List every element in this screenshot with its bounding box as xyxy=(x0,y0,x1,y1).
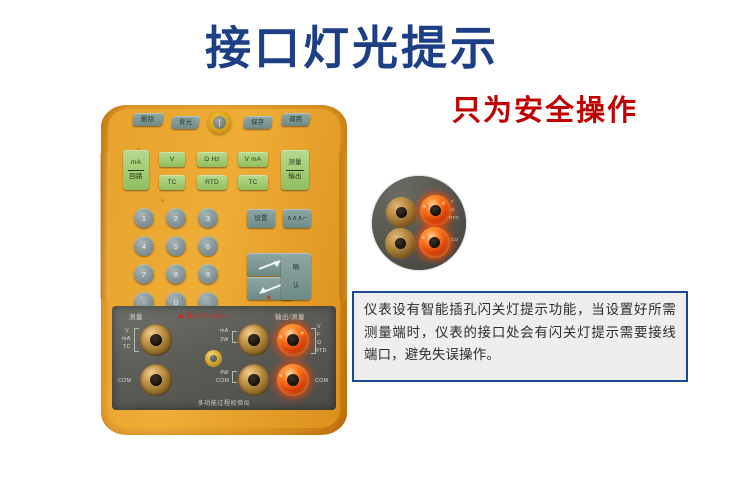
jack-glow xyxy=(277,373,285,378)
mid-bottom-jack[interactable] xyxy=(238,364,270,396)
rtd-button[interactable]: RTD xyxy=(197,175,227,190)
key-2[interactable]: 2 xyxy=(166,208,186,228)
warning-label: 最大30V 24mA xyxy=(178,311,229,320)
ohm-hz-button[interactable]: Ω Hz xyxy=(197,152,227,167)
v-button[interactable]: V xyxy=(159,152,185,167)
terminal-label-3w: 3W xyxy=(220,337,229,343)
inset-jack-bottom-left xyxy=(385,228,416,259)
terminal-label-ma-mid: mA xyxy=(220,328,229,334)
key-9[interactable]: 9 xyxy=(198,264,218,284)
page-title: 接口灯光提示 xyxy=(205,22,585,74)
key-8[interactable]: 8 xyxy=(166,264,186,284)
confirm-button[interactable]: 确 认 xyxy=(281,253,311,300)
right-top-jack[interactable] xyxy=(277,324,309,356)
inset-jack-hole xyxy=(429,237,440,248)
ground-jack[interactable] xyxy=(205,350,222,367)
jack-glow xyxy=(277,334,285,339)
terminal-label-ma: mA xyxy=(122,336,131,342)
inset-jack-glow xyxy=(421,204,428,209)
terminal-label-tc: TC xyxy=(123,344,131,350)
inset-jack-glow xyxy=(441,201,446,205)
waveform-button[interactable]: ∧∧∧⌐ xyxy=(283,209,311,228)
left-bottom-jack[interactable] xyxy=(140,364,172,396)
left-top-jack[interactable] xyxy=(140,324,172,356)
inset-jack-bottom-right-lit xyxy=(419,227,450,258)
terminal-bracket-left xyxy=(134,328,139,352)
terminal-label-rtd-right: RTD xyxy=(315,348,327,354)
ma-loop-bottom-label: 回路 xyxy=(129,173,142,181)
inset-panel-background xyxy=(372,176,466,270)
confirm-bottom-label: 认 xyxy=(293,282,300,290)
terminal-bracket-mid-bottom xyxy=(232,371,237,383)
measure-label: 测量 xyxy=(288,159,301,167)
jack-glow xyxy=(299,331,305,335)
inset-jack-hole xyxy=(430,205,441,216)
output-label: 输出 xyxy=(288,173,301,181)
output-measure-section-label: 输出/测量 xyxy=(275,311,305,321)
device-grip-left xyxy=(100,151,109,301)
terminal-label-f-right: F xyxy=(317,332,321,338)
jack-hole xyxy=(150,334,162,346)
ma-loop-top-label: mA xyxy=(131,159,141,167)
right-bottom-jack[interactable] xyxy=(277,364,309,396)
key-6[interactable]: 6 xyxy=(198,236,218,256)
terminal-panel: 测量 输出/测量 最大30V 24mA V mA TC COM mA xyxy=(112,306,336,410)
jack-hole xyxy=(287,374,299,386)
inset-jack-top-left xyxy=(386,197,417,228)
ma-loop-button[interactable]: mA 回路 xyxy=(123,150,149,190)
measure-section-label: 测量 xyxy=(129,311,143,321)
terminal-label-v: V xyxy=(125,328,129,334)
inset-jack-glow xyxy=(420,235,427,240)
page-subtitle: 只为安全操作 xyxy=(452,94,638,128)
tc-right-button[interactable]: TC xyxy=(238,175,268,190)
callout-box: 仪表设有智能插孔闪关灯提示功能，当设置好所需测量端时，仪表的接口处会有闪关灯提示… xyxy=(352,291,688,382)
jack-hole xyxy=(248,374,260,386)
inset-jack-top-right-lit xyxy=(420,195,451,226)
terminal-label-com-right: COM xyxy=(315,378,328,384)
jack-hole xyxy=(248,334,260,346)
inset-label-rtd: RTD xyxy=(449,215,459,220)
device-grip-right xyxy=(339,151,348,301)
divider xyxy=(128,170,144,171)
confirm-top-label: 确 xyxy=(293,264,300,272)
v-ma-button[interactable]: V mA xyxy=(238,152,268,167)
terminal-label-v-right: V xyxy=(317,324,321,330)
terminal-label-4w: 4W xyxy=(220,370,229,376)
inset-label-f: F xyxy=(451,199,454,204)
save-button[interactable]: 保存 xyxy=(243,116,273,129)
waveform-icon: ∧∧∧⌐ xyxy=(287,215,307,223)
mid-top-jack[interactable] xyxy=(238,324,270,356)
power-button[interactable] xyxy=(208,111,231,134)
process-calibrator-device: 删除 背光 保存 调用 mA 回路 V Ω Hz V mA TC xyxy=(101,105,347,435)
arrow-down-left-icon xyxy=(257,283,283,295)
power-icon xyxy=(213,116,226,129)
delete-button[interactable]: 删除 xyxy=(132,113,164,126)
tc-left-button[interactable]: TC xyxy=(159,175,185,190)
terminal-label-ohm-right: Ω xyxy=(317,340,321,346)
jack-hole xyxy=(150,374,162,386)
measure-output-button[interactable]: 测量 输出 xyxy=(281,150,309,190)
screw-icon xyxy=(161,199,164,202)
device-model-name: 多功能过程校验仪 xyxy=(112,398,336,407)
jack-hole xyxy=(287,334,299,346)
inset-jack-hole xyxy=(395,238,406,249)
callout-text: 仪表设有智能插孔闪关灯提示功能，当设置好所需测量端时，仪表的接口处会有闪关灯提示… xyxy=(364,299,676,367)
key-4[interactable]: 4 xyxy=(134,236,154,256)
setup-button[interactable]: 设置 xyxy=(247,209,275,228)
warning-triangle-icon xyxy=(178,313,184,318)
inset-jack-hole xyxy=(396,207,407,218)
terminal-bracket-mid-top xyxy=(232,331,237,343)
terminal-label-com-left: COM xyxy=(118,378,131,384)
status-led-indicator xyxy=(267,296,270,299)
page-root: 接口灯光提示 只为安全操作 F Ω RTD CO 仪表设有智能插孔闪关灯提 xyxy=(0,0,750,477)
divider xyxy=(286,170,304,171)
key-3[interactable]: 3 xyxy=(198,208,218,228)
inset-label-com: CO xyxy=(451,237,458,242)
terminal-label-com-mid: COM xyxy=(216,378,229,384)
key-7[interactable]: 7 xyxy=(134,264,154,284)
connector-closeup-photo: F Ω RTD CO xyxy=(372,176,466,270)
key-1[interactable]: 1 xyxy=(134,208,154,228)
key-5[interactable]: 5 xyxy=(166,236,186,256)
arrow-up-right-icon xyxy=(257,259,283,271)
inset-label-ohm: Ω xyxy=(451,207,455,212)
warning-text: 最大30V 24mA xyxy=(186,311,229,320)
recall-button[interactable]: 调用 xyxy=(281,113,311,126)
backlight-button[interactable]: 背光 xyxy=(171,116,200,129)
